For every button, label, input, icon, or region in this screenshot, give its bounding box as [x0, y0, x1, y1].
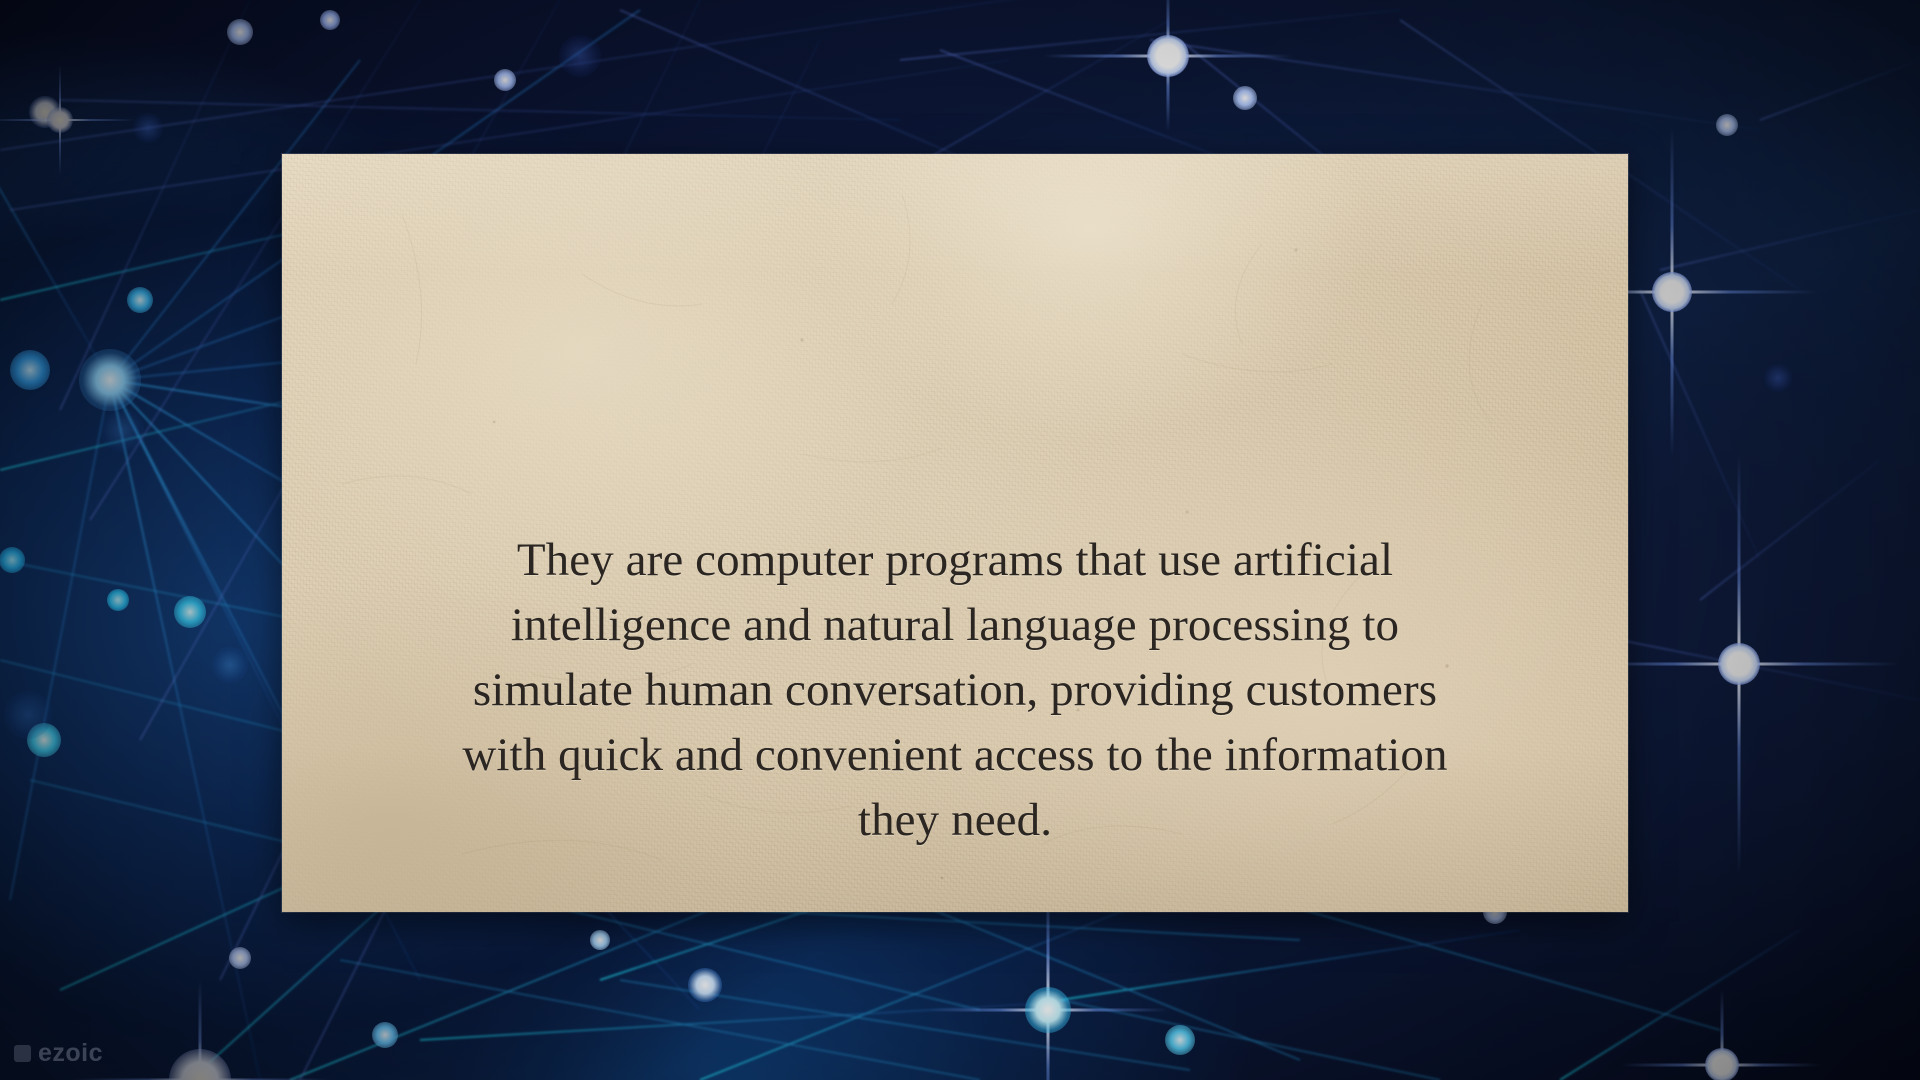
paper-card: They are computer programs that use arti…: [282, 154, 1628, 912]
slide-body-text: They are computer programs that use arti…: [282, 528, 1628, 853]
slide-canvas: They are computer programs that use arti…: [0, 0, 1920, 1080]
